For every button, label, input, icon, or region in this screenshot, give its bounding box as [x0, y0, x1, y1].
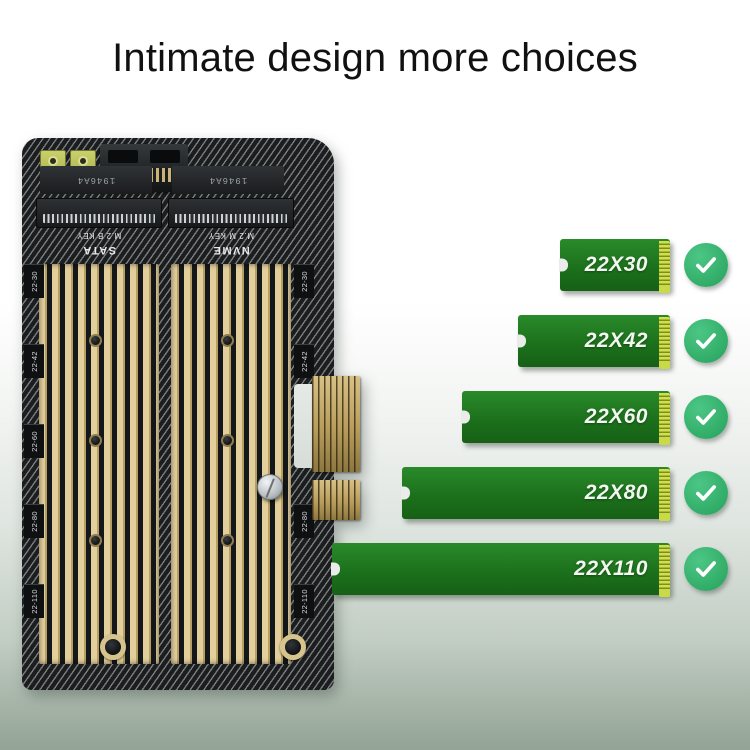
ruler-tick: 22-110	[24, 584, 44, 618]
product-image-canvas: Intimate design more choices 1946A4 M.2 …	[0, 0, 750, 750]
ssd-gold-fingers	[659, 469, 670, 517]
ssd-gold-fingers	[659, 317, 670, 365]
mounting-hole-left	[100, 634, 126, 660]
ssd-size-label: 22X30	[585, 253, 648, 277]
ruler-tick-label: 22-42	[30, 351, 39, 372]
m2-key-label-sata: M.2 B KEY	[36, 231, 162, 240]
chip-code-label: 1946A4	[40, 166, 152, 194]
chip-code-label: 1946A4	[172, 166, 284, 194]
ssd-module: 22X60	[462, 391, 670, 443]
ssd-compatibility-list: 22X3022X4222X6022X8022X110	[330, 236, 736, 622]
pad-hole-top	[78, 156, 88, 166]
bus-label-sata: SATA	[36, 244, 162, 256]
ruler-tick: 22-60	[24, 424, 44, 458]
check-circle-icon	[684, 243, 728, 287]
check-circle-icon	[684, 547, 728, 591]
ruler-tick-label: 22-80	[300, 511, 309, 532]
standoff-screw-1	[89, 334, 102, 347]
ruler-tick: 22-110	[294, 584, 314, 618]
ruler-tick-label: 22-30	[30, 271, 39, 292]
m2-key-label-nvme: M.2 M KEY	[168, 231, 294, 240]
ssd-gold-fingers	[659, 545, 670, 593]
capacitor	[257, 474, 283, 500]
ruler-tick-label: 22-110	[300, 589, 309, 614]
ssd-size-label: 22X60	[585, 405, 648, 429]
ruler-tick: 22-42	[24, 344, 44, 378]
contact-pads-nvme	[171, 264, 291, 664]
check-circle-icon	[684, 471, 728, 515]
m2-slot-nvme: 1946A4 M.2 M KEY NVME	[168, 198, 294, 670]
m2-connector-nvme	[168, 198, 294, 228]
ssd-size-row: 22X80	[402, 464, 728, 522]
check-circle-icon	[684, 395, 728, 439]
ssd-module: 22X80	[402, 467, 670, 519]
ssd-size-row: 22X110	[332, 540, 728, 598]
pad-hole-top	[48, 156, 58, 166]
mounting-hole-right	[280, 634, 306, 660]
check-circle-icon	[684, 319, 728, 363]
ruler-tick: 22-80	[294, 504, 314, 538]
ruler-tick-label: 22-30	[300, 271, 309, 292]
ssd-size-row: 22X30	[560, 236, 728, 294]
page-title: Intimate design more choices	[0, 36, 750, 81]
ssd-module: 22X42	[518, 315, 670, 367]
m2-slot-sata: 1946A4 M.2 B KEY SATA	[36, 198, 162, 670]
standoff-screw-2	[221, 434, 234, 447]
pcb-substrate: 1946A4 M.2 B KEY SATA 1946A4 M.2 M KEY N…	[22, 138, 334, 690]
slot-chip-nvme: 1946A4	[172, 166, 284, 194]
standoff-screw-2	[89, 434, 102, 447]
contact-pads-sata	[39, 264, 159, 664]
size-ruler-left: 22-3022-4222-6022-8022-110	[24, 264, 44, 664]
ruler-tick: 22-80	[24, 504, 44, 538]
slot-chip-sata: 1946A4	[40, 166, 152, 194]
adapter-card: 1946A4 M.2 B KEY SATA 1946A4 M.2 M KEY N…	[22, 138, 334, 690]
ruler-tick: 22-42	[294, 344, 314, 378]
ssd-size-label: 22X110	[574, 557, 648, 581]
ssd-size-label: 22X80	[585, 481, 648, 505]
standoff-screw-3	[89, 534, 102, 547]
ruler-tick-label: 22-42	[300, 351, 309, 372]
ruler-tick-label: 22-80	[30, 511, 39, 532]
ruler-tick: 22-30	[294, 264, 314, 298]
m2-connector-sata	[36, 198, 162, 228]
ruler-tick: 22-30	[24, 264, 44, 298]
standoff-screw-1	[221, 334, 234, 347]
ssd-size-row: 22X60	[462, 388, 728, 446]
ruler-tick-label: 22-60	[30, 431, 39, 452]
ssd-gold-fingers	[659, 393, 670, 441]
ssd-module: 22X30	[560, 239, 670, 291]
ssd-size-label: 22X42	[585, 329, 648, 353]
standoff-screw-3	[221, 534, 234, 547]
ssd-module: 22X110	[332, 543, 670, 595]
ruler-tick-label: 22-110	[30, 589, 39, 614]
bus-label-nvme: NVME	[168, 244, 294, 256]
ssd-size-row: 22X42	[518, 312, 728, 370]
ssd-gold-fingers	[659, 241, 670, 289]
